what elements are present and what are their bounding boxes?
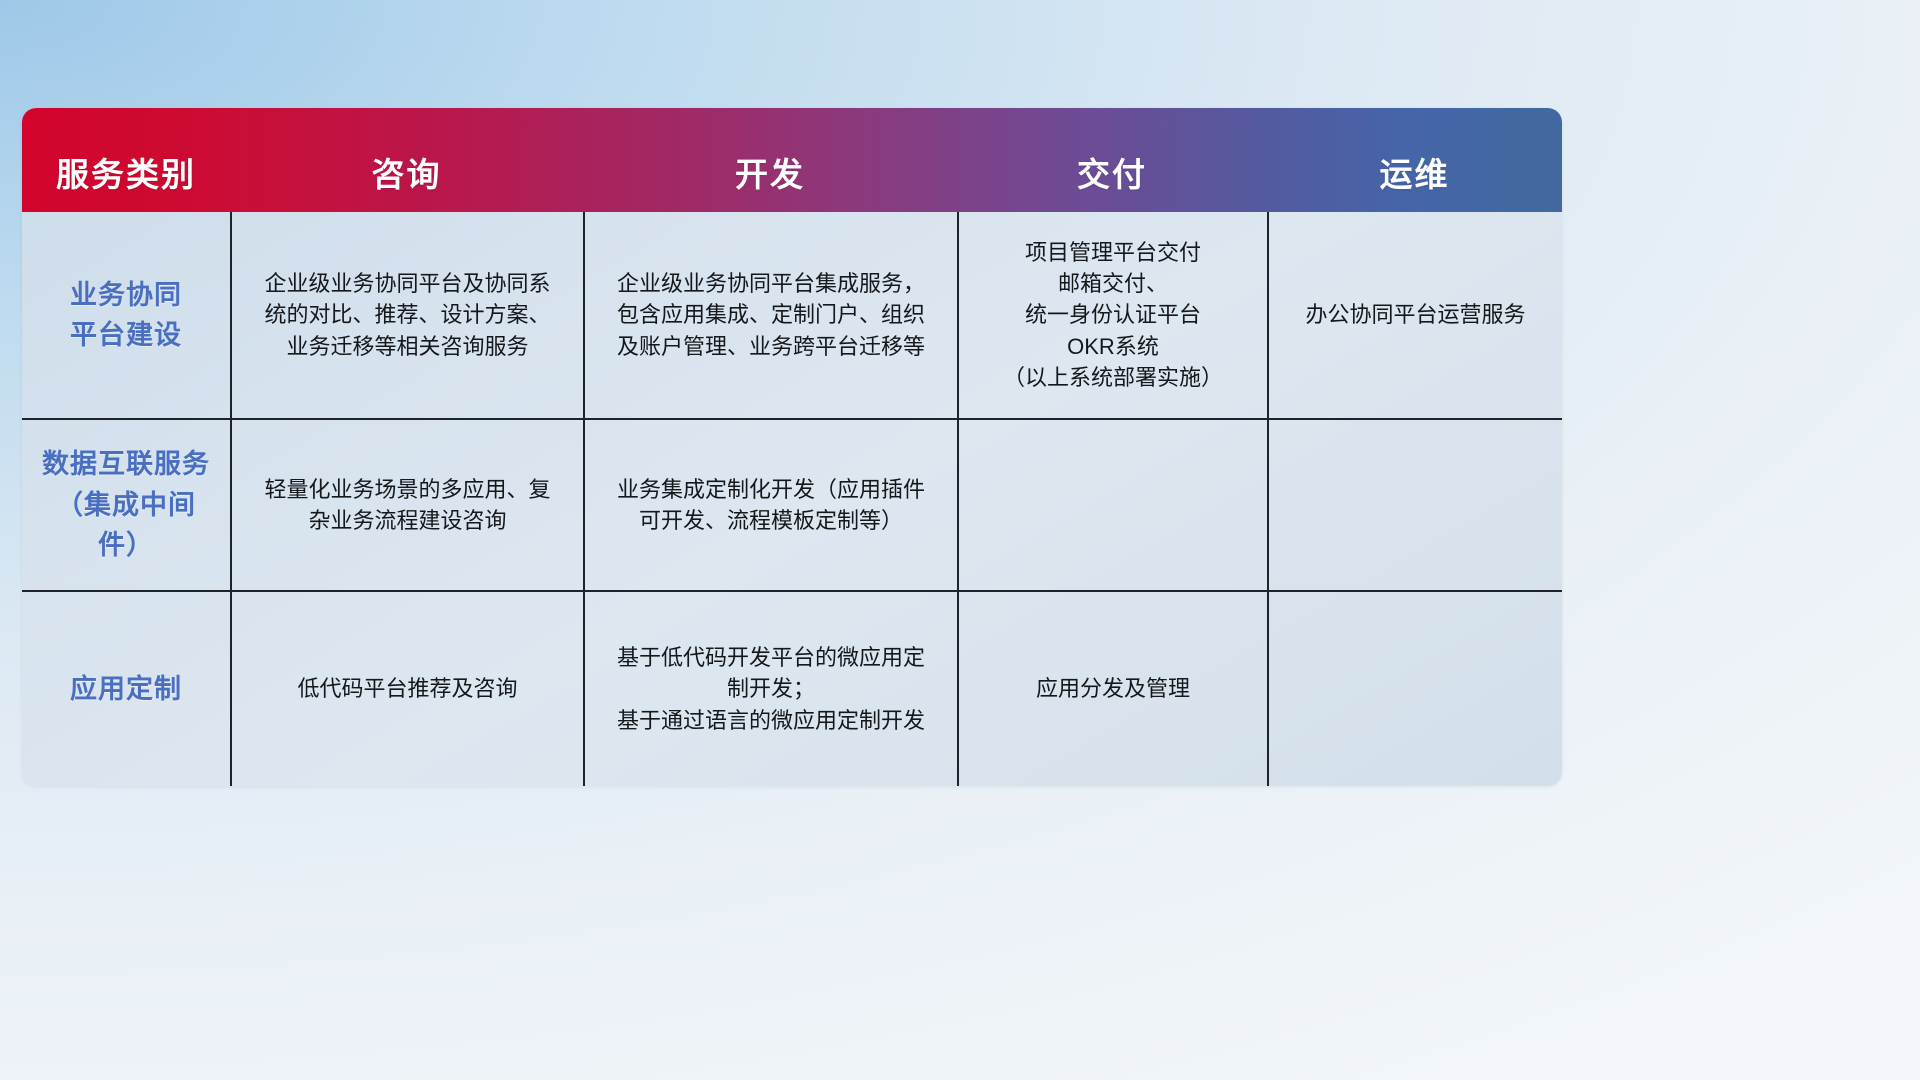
cell-delivery xyxy=(957,420,1267,590)
cell-development: 业务集成定制化开发（应用插件 可开发、流程模板定制等） xyxy=(583,420,957,590)
cell-consulting: 企业级业务协同平台及协同系 统的对比、推荐、设计方案、 业务迁移等相关咨询服务 xyxy=(230,212,583,418)
column-header-category: 服务类别 xyxy=(22,108,230,212)
table-body: 业务协同 平台建设 企业级业务协同平台及协同系 统的对比、推荐、设计方案、 业务… xyxy=(22,212,1562,786)
column-header-development: 开发 xyxy=(583,108,957,212)
cell-consulting: 轻量化业务场景的多应用、复 杂业务流程建设咨询 xyxy=(230,420,583,590)
cell-delivery: 应用分发及管理 xyxy=(957,592,1267,786)
row-category-label: 应用定制 xyxy=(22,592,230,786)
slide-canvas: 服务类别 咨询 开发 交付 运维 业务协同 平台建设 企业级业务协同平台及协同系… xyxy=(0,0,1920,1080)
cell-development: 基于低代码开发平台的微应用定 制开发； 基于通过语言的微应用定制开发 xyxy=(583,592,957,786)
cell-operations xyxy=(1267,592,1562,786)
row-category-label: 业务协同 平台建设 xyxy=(22,212,230,418)
cell-operations: 办公协同平台运营服务 xyxy=(1267,212,1562,418)
table-row: 业务协同 平台建设 企业级业务协同平台及协同系 统的对比、推荐、设计方案、 业务… xyxy=(22,212,1562,418)
row-category-label: 数据互联服务 （集成中间件） xyxy=(22,420,230,590)
column-header-operations: 运维 xyxy=(1267,108,1562,212)
table-row: 应用定制 低代码平台推荐及咨询 基于低代码开发平台的微应用定 制开发； 基于通过… xyxy=(22,590,1562,786)
table-header-row: 服务类别 咨询 开发 交付 运维 xyxy=(22,108,1562,212)
table-row: 数据互联服务 （集成中间件） 轻量化业务场景的多应用、复 杂业务流程建设咨询 业… xyxy=(22,418,1562,590)
cell-development: 企业级业务协同平台集成服务， 包含应用集成、定制门户、组织 及账户管理、业务跨平… xyxy=(583,212,957,418)
cell-consulting: 低代码平台推荐及咨询 xyxy=(230,592,583,786)
cell-delivery: 项目管理平台交付 邮箱交付、 统一身份认证平台 OKR系统 （以上系统部署实施） xyxy=(957,212,1267,418)
column-header-delivery: 交付 xyxy=(957,108,1267,212)
service-matrix-table: 服务类别 咨询 开发 交付 运维 业务协同 平台建设 企业级业务协同平台及协同系… xyxy=(22,108,1562,786)
cell-operations xyxy=(1267,420,1562,590)
column-header-consulting: 咨询 xyxy=(230,108,583,212)
